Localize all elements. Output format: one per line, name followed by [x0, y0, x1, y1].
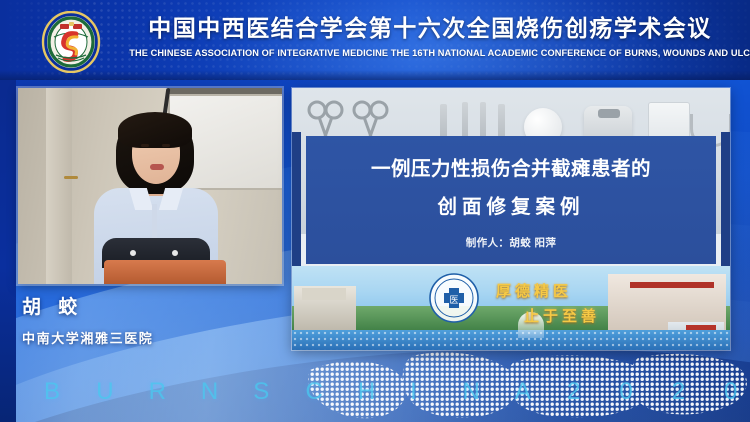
- hospital-emblem-logo: 医: [428, 272, 480, 324]
- wordmark-letter: H: [358, 378, 375, 406]
- banner-building-left-top: [302, 288, 346, 300]
- wordmark-letter: 0: [724, 378, 737, 406]
- background-left-rail: [0, 78, 16, 422]
- slide-title-line-1: 一例压力性损伤合并截瘫患者的: [306, 152, 716, 181]
- wordmark-letter: N: [462, 378, 479, 406]
- presenter-hair-top: [118, 112, 192, 148]
- wordmark-letter: I: [410, 378, 417, 406]
- slide-accent-bar-left: [292, 132, 301, 268]
- laptop: [104, 260, 226, 284]
- conference-header-banner: 中国中西医结合学会第十六次全国烧伤创疡学术会议 THE CHINESE ASSO…: [0, 0, 750, 80]
- header-title-block: 中国中西医结合学会第十六次全国烧伤创疡学术会议 THE CHINESE ASSO…: [120, 12, 740, 59]
- slide-hospital-banner: 医 厚德精医 止于至善: [292, 266, 730, 350]
- wordmark-letter: B: [44, 378, 60, 406]
- metal-container-lid: [598, 109, 620, 118]
- header-bottom-sheen: [0, 70, 750, 80]
- wordmark-letter: R: [149, 378, 166, 406]
- wordmark-letter: 2: [567, 378, 580, 406]
- hospital-motto-line-2: 止于至善: [524, 305, 646, 326]
- hospital-motto-line-1: 厚德精医: [496, 280, 646, 301]
- conference-title-english: THE CHINESE ASSOCIATION OF INTEGRATIVE M…: [129, 48, 730, 59]
- broadcast-stage: 中国中西医结合学会第十六次全国烧伤创疡学术会议 THE CHINESE ASSO…: [0, 0, 750, 422]
- speaker-name: 胡 蛟: [22, 292, 153, 319]
- speaker-video-feed[interactable]: [18, 88, 282, 284]
- svg-text:医: 医: [449, 295, 458, 306]
- wordmark-letter: N: [201, 378, 218, 406]
- wordmark-letter: A: [515, 378, 531, 406]
- event-wordmark: BURNSCHINA2020: [0, 378, 750, 408]
- banner-dot-texture: [292, 330, 730, 350]
- presenter-eye-left: [141, 144, 149, 147]
- wordmark-letter: 2: [672, 378, 685, 406]
- speaker-caption: 胡 蛟 中南大学湘雅三医院: [22, 292, 153, 347]
- lectern-knob-right: [172, 250, 178, 256]
- video-door-handle: [64, 176, 78, 179]
- slide-title-line-2: 创面修复案例: [306, 190, 716, 219]
- slide-accent-bar-right: [721, 132, 730, 268]
- lectern-knob-left: [130, 250, 136, 256]
- presenter-eye-right: [162, 144, 170, 147]
- slide-title-card: 一例压力性损伤合并截瘫患者的 创面修复案例 制作人：胡蛟 阳萍: [306, 136, 716, 264]
- conference-title-chinese: 中国中西医结合学会第十六次全国烧伤创疡学术会议: [120, 12, 740, 44]
- wordmark-letter: 0: [619, 378, 632, 406]
- slide-author-credit: 制作人：胡蛟 阳萍: [306, 235, 716, 250]
- presenter-mouth: [150, 164, 164, 170]
- wordmark-letter: C: [306, 378, 323, 406]
- presentation-slide[interactable]: 一例压力性损伤合并截瘫患者的 创面修复案例 制作人：胡蛟 阳萍 医: [292, 88, 730, 350]
- speaker-organization: 中南大学湘雅三医院: [22, 328, 153, 347]
- wordmark-letter: U: [96, 378, 113, 406]
- hospital-motto: 厚德精医 止于至善: [496, 280, 646, 326]
- video-door-frame: [46, 88, 72, 284]
- association-emblem-logo: [40, 11, 102, 73]
- wordmark-letter: S: [253, 378, 269, 406]
